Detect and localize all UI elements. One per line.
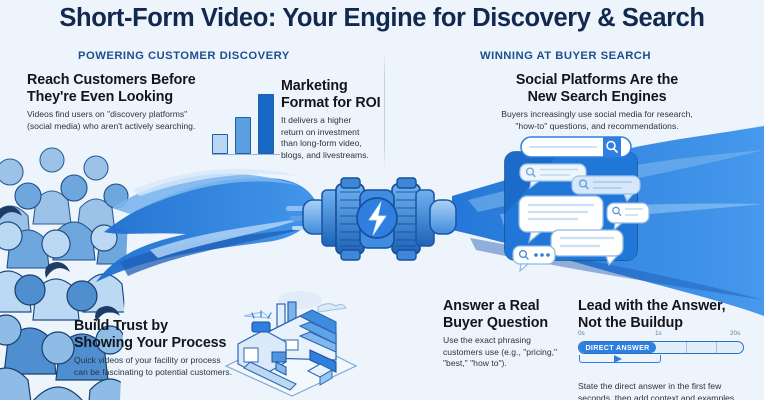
play-icon[interactable] <box>614 355 622 363</box>
callout-heading: Social Platforms Are the New Search Engi… <box>472 72 722 105</box>
callout-body: Buyers increasingly use social media for… <box>472 109 722 132</box>
timeline-tick-0: 0s <box>578 330 585 337</box>
bar-low <box>212 134 228 154</box>
callout-body: State the direct answer in the first few… <box>578 381 758 400</box>
callout-answer-buyer-question: Answer a Real Buyer Question Use the exa… <box>443 298 568 370</box>
callout-build-trust: Build Trust by Showing Your Process Quic… <box>74 318 284 378</box>
timeline-tick-1: 1s <box>655 330 662 337</box>
section-divider <box>384 52 385 170</box>
callout-marketing-roi: Marketing Format for ROI It delivers a h… <box>281 78 381 162</box>
page-title: Short-Form Video: Your Engine for Discov… <box>0 4 764 33</box>
section-header-right: WINNING AT BUYER SEARCH <box>480 50 651 62</box>
timeline-segment <box>657 342 687 353</box>
search-bar-graphic <box>521 137 631 157</box>
section-header-left: POWERING CUSTOMER DISCOVERY <box>78 50 290 62</box>
callout-social-platforms: Social Platforms Are the New Search Engi… <box>472 72 722 132</box>
roi-bar-chart <box>212 86 280 158</box>
callout-heading: Reach Customers Before They're Even Look… <box>27 72 227 105</box>
bar-mid <box>235 117 251 154</box>
search-panel-illustration <box>505 137 649 271</box>
callout-heading: Answer a Real Buyer Question <box>443 298 568 331</box>
bar-high <box>258 94 274 154</box>
callout-heading: Lead with the Answer, Not the Buildup <box>578 298 758 331</box>
timeline-tick-2: 20s <box>730 330 740 337</box>
direct-answer-label: DIRECT ANSWER <box>585 344 649 352</box>
callout-heading: Marketing Format for ROI <box>281 78 381 111</box>
timeline-ticks: 0s 1s 20s <box>578 330 746 340</box>
callout-heading: Build Trust by Showing Your Process <box>74 318 284 351</box>
timeline-track[interactable]: DIRECT ANSWER <box>578 341 744 354</box>
callout-reach-customers: Reach Customers Before They're Even Look… <box>27 72 227 132</box>
callout-body: Quick videos of your facility or process… <box>74 355 284 378</box>
bar-chart-bars <box>212 88 280 154</box>
direct-answer-segment: DIRECT ANSWER <box>579 342 656 353</box>
bar-chart-axis <box>212 154 280 155</box>
callout-body: Use the exact phrasing customers use (e.… <box>443 335 568 370</box>
answer-timeline-widget: 0s 1s 20s DIRECT ANSWER <box>578 330 746 364</box>
callout-body: It delivers a higher return on investmen… <box>281 115 381 161</box>
timeline-segment <box>687 342 717 353</box>
callout-body: Videos find users on "discovery platform… <box>27 109 227 132</box>
infographic-canvas: Short-Form Video: Your Engine for Discov… <box>0 0 764 400</box>
